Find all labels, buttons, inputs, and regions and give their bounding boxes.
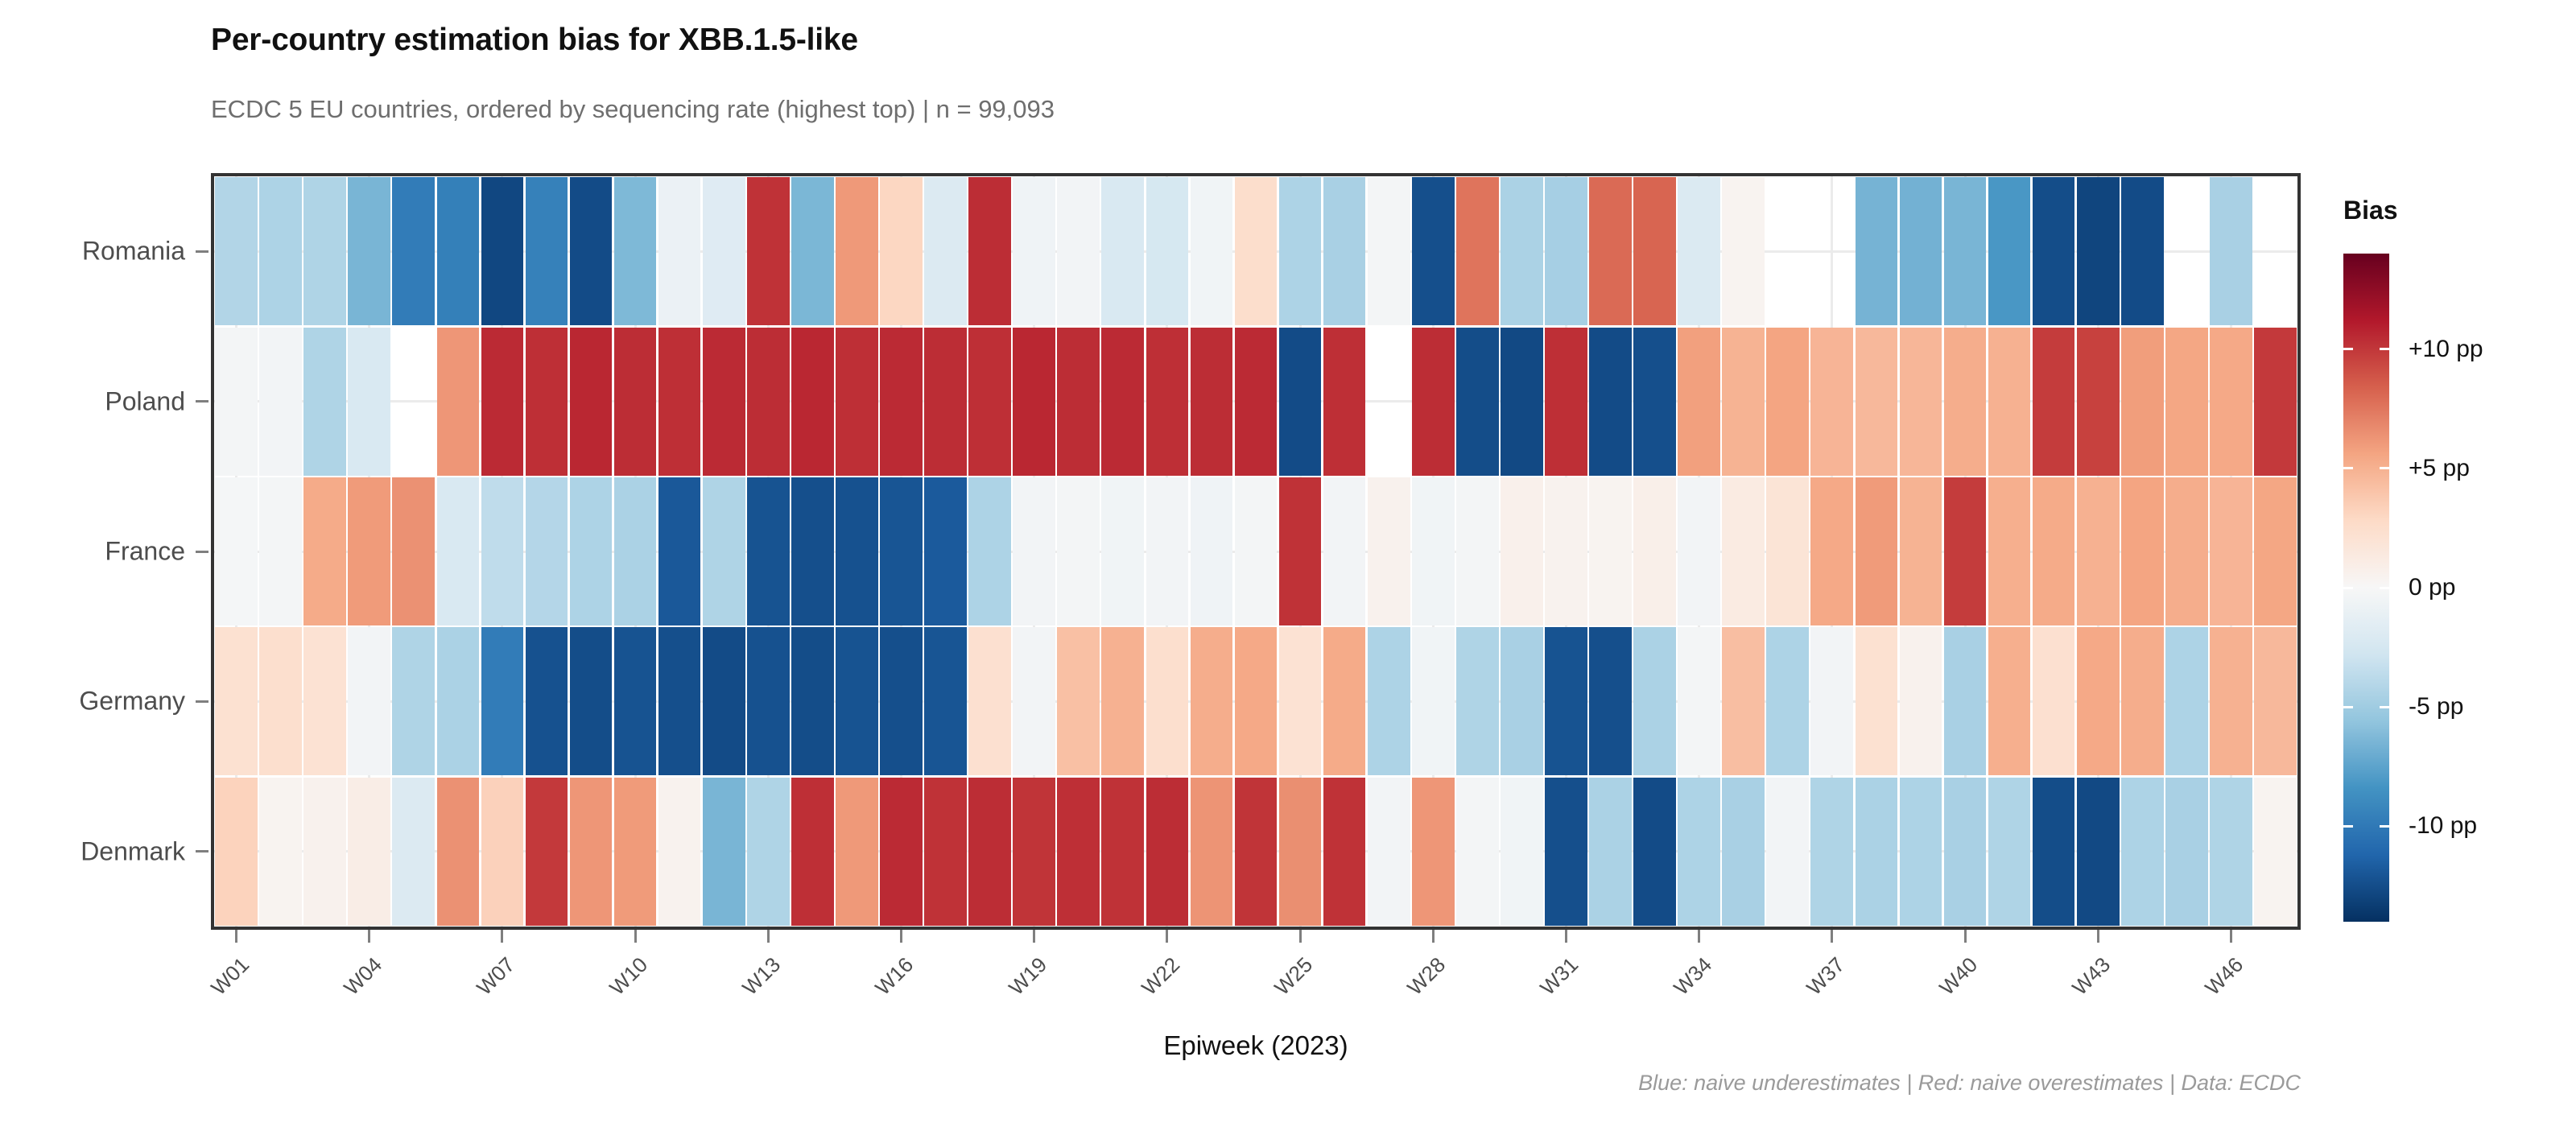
heatmap-cell[interactable]	[614, 778, 657, 926]
heatmap-cell[interactable]	[1235, 328, 1278, 476]
heatmap-cell[interactable]	[481, 328, 524, 476]
heatmap-cell[interactable]	[791, 328, 834, 476]
heatmap-cell[interactable]	[703, 477, 745, 625]
heatmap-cell[interactable]	[259, 627, 302, 775]
heatmap-cell[interactable]	[1456, 477, 1499, 625]
heatmap-cell[interactable]	[836, 778, 878, 926]
heatmap-cell[interactable]	[2254, 627, 2297, 775]
heatmap-cell[interactable]	[1545, 328, 1587, 476]
heatmap-cell[interactable]	[2121, 778, 2164, 926]
heatmap-cell[interactable]	[1810, 627, 1853, 775]
heatmap-cell[interactable]	[2210, 627, 2252, 775]
heatmap-cell[interactable]	[880, 477, 923, 625]
heatmap-cell[interactable]	[1722, 778, 1765, 926]
heatmap-cell[interactable]	[1633, 477, 1676, 625]
heatmap-cell[interactable]	[437, 477, 480, 625]
heatmap-cell[interactable]	[1101, 328, 1144, 476]
heatmap-cell[interactable]	[437, 627, 480, 775]
heatmap-cell[interactable]	[1501, 177, 1543, 325]
heatmap-cell[interactable]	[1412, 328, 1455, 476]
heatmap-cells-container	[214, 176, 2297, 927]
legend-label--10-pp: -10 pp	[2409, 812, 2477, 840]
heatmap-cell[interactable]	[968, 778, 1011, 926]
heatmap-cell[interactable]	[1766, 627, 1809, 775]
heatmap-cell[interactable]	[570, 477, 613, 625]
heatmap-cell[interactable]	[437, 778, 480, 926]
heatmap-cell[interactable]	[1279, 328, 1322, 476]
heatmap-cell[interactable]	[658, 177, 701, 325]
heatmap-cell[interactable]	[2121, 177, 2164, 325]
legend-label--10-pp: +10 pp	[2409, 336, 2483, 363]
heatmap-cell[interactable]	[968, 177, 1011, 325]
heatmap-cell[interactable]	[526, 477, 568, 625]
heatmap-cell[interactable]	[259, 778, 302, 926]
heatmap-cell[interactable]	[526, 778, 568, 926]
heatmap-cell[interactable]	[1766, 328, 1809, 476]
heatmap-cell[interactable]	[303, 328, 346, 476]
heatmap-cell[interactable]	[1589, 328, 1632, 476]
heatmap-cell[interactable]	[1323, 177, 1366, 325]
heatmap-cell[interactable]	[2165, 477, 2208, 625]
heatmap-cell[interactable]	[1323, 477, 1366, 625]
heatmap-cell[interactable]	[1368, 627, 1410, 775]
heatmap-cell[interactable]	[791, 627, 834, 775]
heatmap-cell[interactable]	[1146, 177, 1189, 325]
heatmap-cell[interactable]	[2254, 477, 2297, 625]
x-axis-label-w37: W37	[1718, 952, 1849, 1084]
x-axis-tick	[1698, 930, 1700, 943]
x-axis-tick	[1831, 930, 1833, 943]
heatmap-cell[interactable]	[215, 177, 258, 325]
heatmap-cell[interactable]	[1900, 328, 1942, 476]
heatmap-cell[interactable]	[1633, 177, 1676, 325]
heatmap-cell[interactable]	[2165, 627, 2208, 775]
heatmap-cell[interactable]	[259, 328, 302, 476]
heatmap-cell[interactable]	[703, 177, 745, 325]
heatmap-cell[interactable]	[2210, 328, 2252, 476]
heatmap-cell[interactable]	[2254, 328, 2297, 476]
heatmap-cell[interactable]	[968, 477, 1011, 625]
x-axis-label-w34: W34	[1585, 952, 1716, 1084]
heatmap-cell[interactable]	[1944, 627, 1987, 775]
heatmap-cell[interactable]	[1988, 627, 2031, 775]
heatmap-cell[interactable]	[836, 177, 878, 325]
heatmap-cell[interactable]	[481, 627, 524, 775]
heatmap-cell[interactable]	[1013, 477, 1055, 625]
heatmap-cell[interactable]	[1944, 328, 1987, 476]
heatmap-cell[interactable]	[1501, 627, 1543, 775]
heatmap-cell[interactable]	[1810, 328, 1853, 476]
heatmap-cell[interactable]	[1101, 477, 1144, 625]
heatmap-cell[interactable]	[703, 778, 745, 926]
heatmap-cell[interactable]	[1235, 177, 1278, 325]
heatmap-cell[interactable]	[1988, 328, 2031, 476]
heatmap-cell[interactable]	[2210, 778, 2252, 926]
heatmap-cell[interactable]	[1456, 328, 1499, 476]
heatmap-cell[interactable]	[570, 328, 613, 476]
heatmap-cell[interactable]	[2077, 778, 2120, 926]
heatmap-cell[interactable]	[2165, 328, 2208, 476]
x-axis-tick	[2230, 930, 2232, 943]
heatmap-cell[interactable]	[1057, 177, 1100, 325]
heatmap-cell[interactable]	[1146, 328, 1189, 476]
heatmap-cell[interactable]	[2210, 477, 2252, 625]
heatmap-cell[interactable]	[215, 328, 258, 476]
heatmap-cell[interactable]	[2121, 328, 2164, 476]
heatmap-cell[interactable]	[1545, 778, 1587, 926]
heatmap-cell[interactable]	[1323, 328, 1366, 476]
plot-caption: Blue: naive underestimates | Red: naive …	[211, 1071, 2301, 1096]
heatmap-cell[interactable]	[2165, 778, 2208, 926]
heatmap-cell[interactable]	[526, 627, 568, 775]
plot-subtitle: ECDC 5 EU countries, ordered by sequenci…	[211, 95, 1055, 124]
heatmap-cell[interactable]	[1856, 177, 1898, 325]
y-axis-label-poland: Poland	[105, 386, 185, 416]
x-axis-label-w04: W04	[255, 952, 386, 1084]
heatmap-cell[interactable]	[1412, 778, 1455, 926]
heatmap-cell[interactable]	[791, 477, 834, 625]
heatmap-cell[interactable]	[1545, 477, 1587, 625]
heatmap-cell[interactable]	[1323, 627, 1366, 775]
heatmap-cell[interactable]	[614, 177, 657, 325]
y-axis-tick	[196, 700, 208, 703]
heatmap-cell[interactable]	[1900, 627, 1942, 775]
x-axis-label-w25: W25	[1187, 952, 1318, 1084]
heatmap-cell[interactable]	[1810, 778, 1853, 926]
heatmap-cell[interactable]	[303, 177, 346, 325]
legend-title: Bias	[2343, 196, 2398, 225]
x-axis-tick	[501, 930, 503, 943]
heatmap-cell[interactable]	[1678, 477, 1720, 625]
heatmap-cell[interactable]	[1856, 328, 1898, 476]
heatmap-cell[interactable]	[1589, 477, 1632, 625]
heatmap-cell[interactable]	[1722, 177, 1765, 325]
heatmap-cell[interactable]	[880, 778, 923, 926]
heatmap-cell[interactable]	[1191, 328, 1233, 476]
heatmap-cell[interactable]	[1944, 778, 1987, 926]
heatmap-cell[interactable]	[924, 477, 967, 625]
y-axis-label-france: France	[105, 537, 185, 567]
heatmap-cell[interactable]	[968, 627, 1011, 775]
heatmap-cell[interactable]	[2121, 477, 2164, 625]
heatmap-cell[interactable]	[1057, 778, 1100, 926]
heatmap-cell[interactable]	[880, 177, 923, 325]
heatmap-cell[interactable]	[1856, 477, 1898, 625]
heatmap-cell[interactable]	[2121, 627, 2164, 775]
heatmap-cell[interactable]	[658, 778, 701, 926]
heatmap-cell[interactable]	[924, 177, 967, 325]
heatmap-cell[interactable]	[1191, 177, 1233, 325]
heatmap-cell[interactable]	[1678, 328, 1720, 476]
heatmap-cell[interactable]	[1013, 778, 1055, 926]
y-axis-tick	[196, 400, 208, 402]
heatmap-cell[interactable]	[1900, 477, 1942, 625]
heatmap-cell[interactable]	[1456, 778, 1499, 926]
heatmap-cell[interactable]	[1589, 627, 1632, 775]
heatmap-cell[interactable]	[703, 627, 745, 775]
heatmap-cell[interactable]	[1013, 627, 1055, 775]
heatmap-cell[interactable]	[1191, 627, 1233, 775]
heatmap-cell[interactable]	[526, 177, 568, 325]
legend-label--5-pp: -5 pp	[2409, 693, 2463, 720]
heatmap-cell[interactable]	[747, 778, 790, 926]
x-axis-label-w28: W28	[1319, 952, 1451, 1084]
x-axis-tick	[235, 930, 237, 943]
x-axis-label-w13: W13	[654, 952, 786, 1084]
heatmap-cell[interactable]	[2077, 477, 2120, 625]
heatmap-cell[interactable]	[1988, 177, 2031, 325]
x-axis-label-w01: W01	[122, 952, 254, 1084]
heatmap-cell[interactable]	[836, 627, 878, 775]
heatmap-cell[interactable]	[1235, 778, 1278, 926]
heatmap-cell[interactable]	[259, 477, 302, 625]
heatmap-cell[interactable]	[1722, 477, 1765, 625]
legend-label--5-pp: +5 pp	[2409, 455, 2470, 482]
heatmap-cell[interactable]	[1633, 328, 1676, 476]
x-axis-label-w31: W31	[1452, 952, 1583, 1084]
heatmap-cell[interactable]	[614, 477, 657, 625]
x-axis-title: Epiweek (2023)	[211, 1030, 2301, 1061]
heatmap-cell[interactable]	[1856, 778, 1898, 926]
y-axis-label-germany: Germany	[79, 687, 185, 716]
heatmap-cell[interactable]	[1279, 627, 1322, 775]
heatmap-cell[interactable]	[437, 177, 480, 325]
heatmap-cell[interactable]	[1412, 627, 1455, 775]
heatmap-cell[interactable]	[2077, 177, 2120, 325]
y-axis-tick	[196, 850, 208, 852]
heatmap-cell[interactable]	[1856, 627, 1898, 775]
heatmap-cell[interactable]	[1412, 477, 1455, 625]
heatmap-cell[interactable]	[1013, 328, 1055, 476]
heatmap-cell[interactable]	[2033, 778, 2075, 926]
legend-label-0-pp: 0 pp	[2409, 574, 2455, 601]
heatmap-cell[interactable]	[1988, 477, 2031, 625]
x-axis-label-w07: W07	[388, 952, 519, 1084]
heatmap-cell[interactable]	[1678, 627, 1720, 775]
heatmap-cell[interactable]	[1057, 627, 1100, 775]
x-axis-tick	[1432, 930, 1435, 943]
heatmap-cell[interactable]	[1146, 627, 1189, 775]
heatmap-panel	[211, 173, 2301, 930]
heatmap-cell[interactable]	[1810, 477, 1853, 625]
heatmap-cell[interactable]	[526, 328, 568, 476]
x-axis-tick	[1964, 930, 1967, 943]
x-axis-tick	[900, 930, 902, 943]
heatmap-cell[interactable]	[1412, 177, 1455, 325]
heatmap-cell[interactable]	[880, 328, 923, 476]
heatmap-cell[interactable]	[968, 328, 1011, 476]
heatmap-cell[interactable]	[924, 627, 967, 775]
heatmap-cell[interactable]	[1589, 778, 1632, 926]
heatmap-cell[interactable]	[1368, 177, 1410, 325]
heatmap-cell[interactable]	[1633, 627, 1676, 775]
heatmap-cell[interactable]	[1456, 627, 1499, 775]
heatmap-cell[interactable]	[1191, 778, 1233, 926]
heatmap-cell[interactable]	[1678, 177, 1720, 325]
heatmap-cell[interactable]	[2033, 328, 2075, 476]
heatmap-cell[interactable]	[481, 177, 524, 325]
heatmap-cell[interactable]	[2033, 627, 2075, 775]
heatmap-cell[interactable]	[392, 627, 435, 775]
heatmap-cell[interactable]	[215, 778, 258, 926]
heatmap-cell[interactable]	[1722, 328, 1765, 476]
x-axis-tick	[1299, 930, 1302, 943]
heatmap-cell[interactable]	[2077, 328, 2120, 476]
x-axis-label-w40: W40	[1851, 952, 1983, 1084]
heatmap-cell[interactable]	[259, 177, 302, 325]
heatmap-cell[interactable]	[481, 778, 524, 926]
heatmap-cell[interactable]	[924, 778, 967, 926]
heatmap-cell[interactable]	[303, 477, 346, 625]
heatmap-cell[interactable]	[791, 177, 834, 325]
heatmap-cell[interactable]	[658, 328, 701, 476]
heatmap-cell[interactable]	[1456, 177, 1499, 325]
heatmap-cell[interactable]	[1057, 328, 1100, 476]
heatmap-cell[interactable]	[614, 328, 657, 476]
heatmap-cell[interactable]	[437, 328, 480, 476]
heatmap-cell[interactable]	[2033, 177, 2075, 325]
heatmap-cell[interactable]	[1368, 778, 1410, 926]
heatmap-cell[interactable]	[1501, 778, 1543, 926]
x-axis-label-w19: W19	[920, 952, 1051, 1084]
heatmap-cell[interactable]	[1766, 778, 1809, 926]
heatmap-cell[interactable]	[1988, 778, 2031, 926]
page-title: Per-country estimation bias for XBB.1.5-…	[211, 23, 858, 58]
heatmap-cell[interactable]	[348, 477, 390, 625]
heatmap-cell[interactable]	[924, 328, 967, 476]
heatmap-cell[interactable]	[392, 778, 435, 926]
heatmap-cell[interactable]	[1057, 477, 1100, 625]
heatmap-cell[interactable]	[1323, 778, 1366, 926]
heatmap-cell[interactable]	[1146, 778, 1189, 926]
x-axis-tick	[368, 930, 370, 943]
heatmap-cell[interactable]	[1722, 627, 1765, 775]
heatmap-cell[interactable]	[1013, 177, 1055, 325]
heatmap-cell[interactable]	[1944, 177, 1987, 325]
heatmap-cell[interactable]	[348, 177, 390, 325]
heatmap-cell[interactable]	[392, 477, 435, 625]
heatmap-cell[interactable]	[1191, 477, 1233, 625]
heatmap-cell[interactable]	[1633, 778, 1676, 926]
heatmap-cell[interactable]	[1146, 477, 1189, 625]
x-axis-label-w10: W10	[522, 952, 653, 1084]
heatmap-cell[interactable]	[836, 328, 878, 476]
heatmap-cell[interactable]	[1589, 177, 1632, 325]
heatmap-cell[interactable]	[880, 627, 923, 775]
heatmap-cell[interactable]	[1368, 477, 1410, 625]
heatmap-cell[interactable]	[747, 627, 790, 775]
x-axis-label-w46: W46	[2117, 952, 2248, 1084]
x-axis-tick	[1033, 930, 1035, 943]
heatmap-cell[interactable]	[2254, 778, 2297, 926]
heatmap-cell[interactable]	[570, 627, 613, 775]
heatmap-cell[interactable]	[614, 627, 657, 775]
heatmap-cell[interactable]	[215, 627, 258, 775]
heatmap-cell[interactable]	[1279, 177, 1322, 325]
heatmap-cell[interactable]	[1944, 477, 1987, 625]
x-axis-tick	[1166, 930, 1168, 943]
heatmap-cell[interactable]	[303, 778, 346, 926]
heatmap-cell[interactable]	[703, 328, 745, 476]
heatmap-cell[interactable]	[747, 477, 790, 625]
heatmap-cell[interactable]	[658, 477, 701, 625]
heatmap-cell[interactable]	[2210, 177, 2252, 325]
heatmap-cell[interactable]	[215, 477, 258, 625]
heatmap-cell[interactable]	[481, 477, 524, 625]
heatmap-cell[interactable]	[392, 177, 435, 325]
x-axis-tick	[767, 930, 770, 943]
heatmap-cell[interactable]	[658, 627, 701, 775]
heatmap-cell[interactable]	[303, 627, 346, 775]
heatmap-cell[interactable]	[348, 627, 390, 775]
heatmap-cell[interactable]	[1279, 778, 1322, 926]
x-axis-tick	[2097, 930, 2099, 943]
heatmap-cell[interactable]	[1501, 328, 1543, 476]
x-axis-tick	[634, 930, 637, 943]
heatmap-cell[interactable]	[1501, 477, 1543, 625]
legend-colorbar	[2343, 254, 2389, 922]
heatmap-cell[interactable]	[1900, 778, 1942, 926]
heatmap-cell[interactable]	[570, 177, 613, 325]
heatmap-cell[interactable]	[836, 477, 878, 625]
y-axis-label-denmark: Denmark	[80, 836, 185, 866]
y-axis-label-romania: Romania	[82, 237, 185, 266]
heatmap-cell[interactable]	[1766, 477, 1809, 625]
heatmap-cell[interactable]	[348, 328, 390, 476]
heatmap-cell[interactable]	[1678, 778, 1720, 926]
x-axis-label-w43: W43	[1984, 952, 2116, 1084]
heatmap-cell[interactable]	[348, 778, 390, 926]
heatmap-cell[interactable]	[1545, 177, 1587, 325]
x-axis-label-w22: W22	[1053, 952, 1184, 1084]
heatmap-cell[interactable]	[1279, 477, 1322, 625]
heatmap-cell[interactable]	[1235, 627, 1278, 775]
heatmap-cell[interactable]	[747, 328, 790, 476]
heatmap-cell[interactable]	[1101, 177, 1144, 325]
heatmap-cell[interactable]	[1235, 477, 1278, 625]
heatmap-cell[interactable]	[2077, 627, 2120, 775]
x-axis-tick	[1565, 930, 1567, 943]
y-axis-tick	[196, 551, 208, 553]
x-axis-label-w16: W16	[787, 952, 919, 1084]
heatmap-cell[interactable]	[1545, 627, 1587, 775]
heatmap-cell[interactable]	[747, 177, 790, 325]
heatmap-cell[interactable]	[570, 778, 613, 926]
heatmap-cell[interactable]	[1101, 627, 1144, 775]
heatmap-cell[interactable]	[791, 778, 834, 926]
y-axis-tick	[196, 250, 208, 253]
heatmap-cell[interactable]	[2033, 477, 2075, 625]
heatmap-cell[interactable]	[1900, 177, 1942, 325]
heatmap-cell[interactable]	[1101, 778, 1144, 926]
